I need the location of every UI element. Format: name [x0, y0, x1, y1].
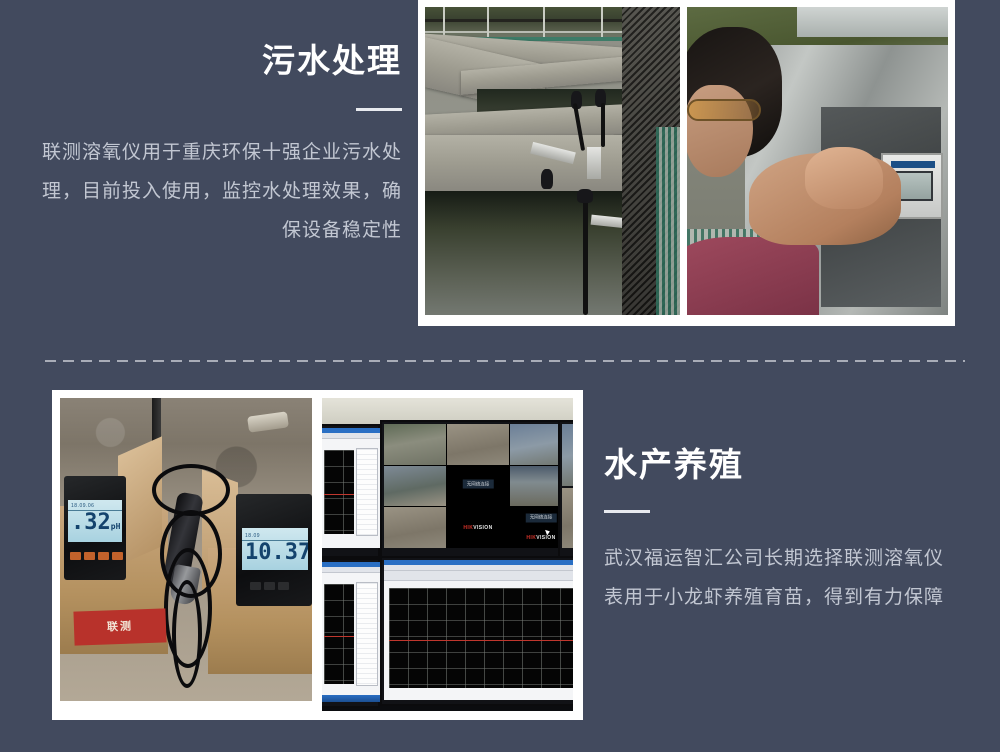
camera-tile-no-signal[interactable]: 无网络连接 [447, 466, 509, 507]
green-fence [656, 127, 680, 315]
hikvision-logo: HIKVISION [526, 535, 555, 541]
trend-chart [324, 584, 354, 684]
no-signal-label: 无网络连接 [463, 480, 494, 489]
page-root: 污水处理 联测溶氧仪用于重庆环保十强企业污水处理，目前投入使用，监控水处理效果，… [0, 0, 1000, 752]
panel-brand-strip [891, 161, 935, 168]
keypad-button [112, 552, 123, 560]
eyeglasses [687, 99, 761, 121]
section-aquaculture-body: 武汉福运智汇公司长期选择联测溶氧仪表用于小龙虾养殖育苗，得到有力保障 [604, 539, 960, 617]
section-aquaculture-rule [604, 510, 650, 513]
cctv-monitor: 无网络连接 HIKVISION 无网络连接 HIKVISION [380, 420, 573, 560]
section-aquaculture-photo-frame: 18.09.06 .32pH 18.09 10.37 [52, 390, 583, 720]
railing-post [487, 7, 489, 37]
keypad-button [98, 552, 109, 560]
trend-software-window [384, 560, 573, 700]
dissolved-oxygen-probe [541, 169, 553, 189]
monitor-top-left [322, 424, 380, 558]
section-aquaculture-heading: 水产养殖 [604, 444, 960, 486]
data-list-panel[interactable] [356, 448, 378, 536]
railing-post [543, 7, 545, 37]
keypad-button [84, 552, 95, 560]
ph-meter: 18.09.06 .32pH [64, 476, 126, 580]
sensor-cable [601, 103, 605, 147]
monitoring-screens-photo: 无网络连接 HIKVISION 无网络连接 HIKVISION [322, 398, 573, 711]
section-wastewater-heading: 污水处理 [40, 40, 402, 82]
window-toolbar[interactable] [322, 567, 380, 573]
software-window [322, 562, 380, 702]
do-meter-display: 18.09 10.37 [242, 528, 308, 570]
technician-cabinet-photo [687, 7, 948, 315]
camera-tile[interactable] [384, 466, 446, 507]
keypad-button [70, 552, 81, 560]
section-wastewater-rule [356, 108, 402, 111]
cctv-camera-grid: 无网络连接 HIKVISION 无网络连接 HIKVISION [384, 424, 572, 548]
technician-shirt [687, 237, 819, 315]
window-toolbar[interactable] [322, 433, 380, 439]
section-divider [45, 360, 965, 362]
camera-tile[interactable] [562, 488, 573, 548]
ph-meter-display-value: .32pH [68, 511, 122, 539]
windows-taskbar[interactable] [322, 695, 380, 702]
data-list-panel[interactable] [356, 582, 378, 686]
railing-post [443, 7, 445, 37]
section-wastewater-photo-frame [418, 0, 955, 326]
ph-meter-display: 18.09.06 .32pH [68, 500, 122, 542]
meters-probe-photo: 18.09.06 .32pH 18.09 10.37 [60, 398, 312, 701]
monitor-right-partial [558, 420, 573, 560]
section-wastewater-text: 污水处理 联测溶氧仪用于重庆环保十强企业污水处理，目前投入使用，监控水处理效果，… [40, 40, 402, 250]
ph-meter-keypad [70, 552, 123, 560]
technician-head [687, 27, 782, 157]
monitor-bottom-left [322, 558, 380, 708]
no-signal-label: 无网络连接 [526, 513, 557, 522]
sensor-bracket [587, 147, 601, 179]
wastewater-tanks-photo [425, 7, 680, 315]
camera-tile[interactable] [562, 424, 573, 486]
monitor-bottom-main [380, 556, 573, 706]
probe-head [577, 189, 593, 203]
sky-patch [797, 7, 948, 37]
camera-tile-idle[interactable]: HIKVISION [447, 507, 509, 548]
keypad-button [264, 582, 275, 590]
box-label-text: 联测 [73, 608, 166, 645]
do-meter-display-value: 10.37 [242, 541, 308, 565]
probe-pole [583, 197, 588, 315]
tank-water-foreground [425, 191, 635, 315]
section-wastewater-body: 联测溶氧仪用于重庆环保十强企业污水处理，目前投入使用，监控水处理效果，确保设备稳… [40, 133, 402, 250]
box-printed-label: 联测 [73, 608, 166, 645]
do-meter: 18.09 10.37 [236, 494, 312, 606]
keypad-button [278, 582, 289, 590]
coiled-cable [152, 464, 230, 516]
section-aquaculture-text: 水产养殖 武汉福运智汇公司长期选择联测溶氧仪表用于小龙虾养殖育苗，得到有力保障 [604, 444, 960, 617]
do-meter-keypad [250, 582, 289, 590]
window-ribbon[interactable] [384, 571, 573, 581]
keypad-button [250, 582, 261, 590]
software-window [322, 428, 380, 548]
dissolved-oxygen-trend-chart [389, 588, 573, 688]
camera-tile[interactable] [384, 507, 446, 548]
camera-tile[interactable] [384, 424, 446, 465]
railing-post [601, 7, 603, 37]
coiled-cable [172, 580, 202, 688]
camera-tile[interactable] [447, 424, 509, 465]
trend-chart [324, 450, 354, 534]
technician-hand [805, 147, 883, 209]
hikvision-logo: HIKVISION [463, 525, 492, 531]
